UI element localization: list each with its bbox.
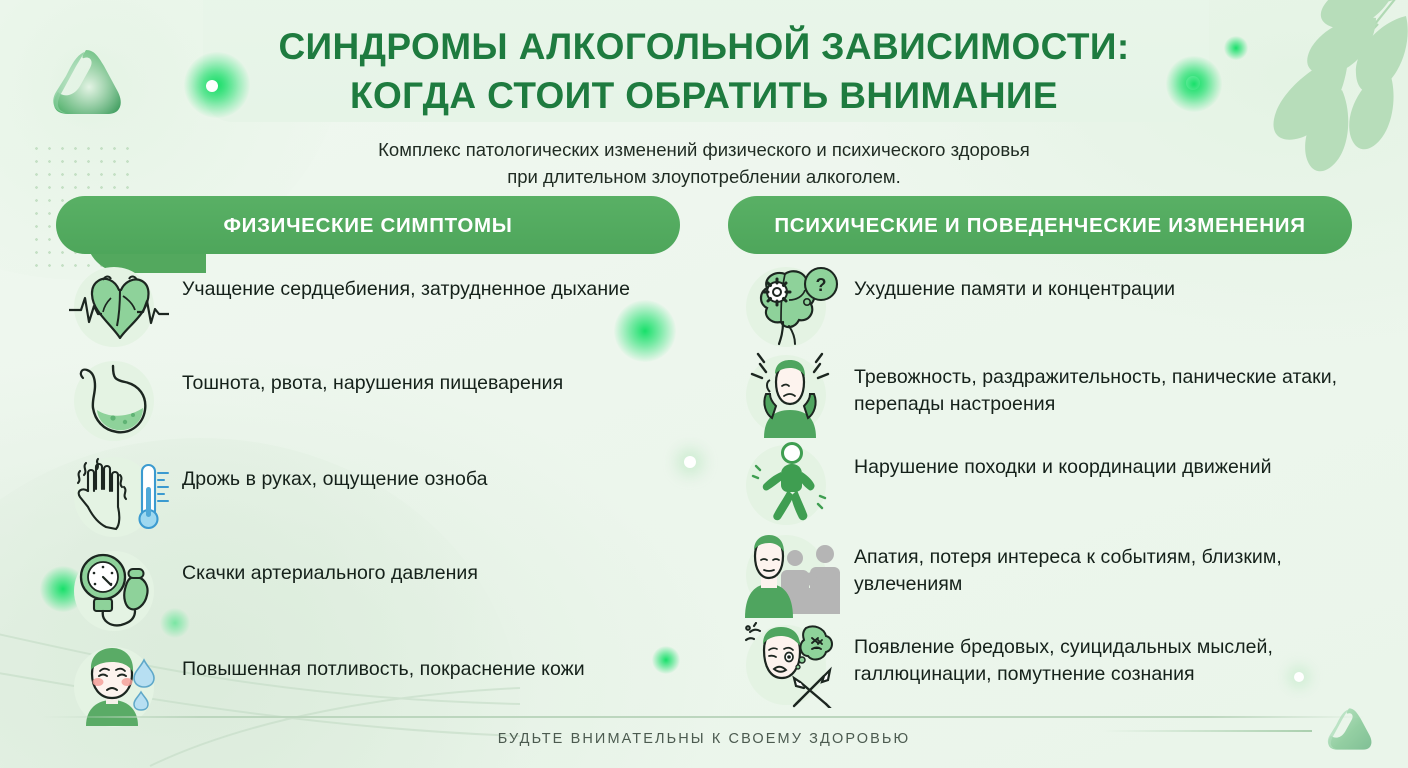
list-item-label: Ухудшение памяти и концентрации xyxy=(854,264,1352,303)
column-physical-symptoms: ФИЗИЧЕСКИЕ СИМПТОМЫ Учащ xyxy=(56,196,680,730)
list-item-label: Дрожь в руках, ощущение озноба xyxy=(182,454,680,493)
stomach-icon xyxy=(73,360,165,442)
walking-person-icon xyxy=(748,442,834,528)
list-item-label: Апатия, потеря интереса к событиям, близ… xyxy=(854,532,1352,597)
list-item: Учащение сердцебиения, затрудненное дыха… xyxy=(56,264,680,350)
list-item: Скачки артериального давления xyxy=(56,548,680,634)
list-item: Апатия, потеря интереса к событиям, близ… xyxy=(728,532,1352,620)
delusion-face-sword-icon xyxy=(738,622,844,708)
page-title: СИНДРОМЫ АЛКОГОЛЬНОЙ ЗАВИСИМОСТИ: КОГДА … xyxy=(0,0,1408,120)
icon-wrap xyxy=(728,532,854,618)
list-item: Появление бредовых, суицидальных мыслей,… xyxy=(728,622,1352,710)
list-item: Тревожность, раздражительность, паническ… xyxy=(728,352,1352,440)
svg-text:?: ? xyxy=(816,275,827,295)
list-item: Дрожь в руках, ощущение озноба xyxy=(56,454,680,540)
page-subtitle-line2: при длительном злоупотреблении алкоголем… xyxy=(0,163,1408,190)
apathy-family-icon xyxy=(739,532,843,618)
icon-wrap xyxy=(56,548,182,634)
heart-ecg-icon xyxy=(67,268,171,346)
page-subtitle-line1: Комплекс патологических изменений физиче… xyxy=(0,136,1408,163)
icon-wrap xyxy=(728,442,854,528)
page-title-line1: СИНДРОМЫ АЛКОГОЛЬНОЙ ЗАВИСИМОСТИ: xyxy=(278,26,1129,67)
footer-tagline: БУДЬТЕ ВНИМАТЕЛЬНЫ К СВОЕМУ ЗДОРОВЬЮ xyxy=(0,731,1408,747)
content-columns: ФИЗИЧЕСКИЕ СИМПТОМЫ Учащ xyxy=(0,196,1408,730)
symptom-list-physical: Учащение сердцебиения, затрудненное дыха… xyxy=(56,264,680,730)
list-item-label: Скачки артериального давления xyxy=(182,548,680,587)
icon-wrap xyxy=(728,352,854,438)
brain-gear-question-icon: ? xyxy=(741,266,841,348)
list-item-label: Тошнота, рвота, нарушения пищеварения xyxy=(182,358,680,397)
icon-wrap xyxy=(56,358,182,444)
list-item: Нарушение походки и координации движений xyxy=(728,442,1352,530)
footer: БУДЬТЕ ВНИМАТЕЛЬНЫ К СВОЕМУ ЗДОРОВЬЮ xyxy=(0,716,1408,768)
list-item-label: Учащение сердцебиения, затрудненное дыха… xyxy=(182,264,680,303)
icon-wrap xyxy=(56,454,182,540)
list-item: ? Ухудшение памяти и концентрации xyxy=(728,264,1352,352)
list-item: Тошнота, рвота, нарушения пищеварения xyxy=(56,358,680,444)
symptom-list-mental: ? Ухудшение памяти и концентрации xyxy=(728,264,1352,710)
icon-wrap xyxy=(728,622,854,708)
icon-wrap: ? xyxy=(728,264,854,350)
blood-pressure-monitor-icon xyxy=(67,549,171,633)
list-item-label: Нарушение походки и координации движений xyxy=(854,442,1352,481)
page-subtitle: Комплекс патологических изменений физиче… xyxy=(0,120,1408,190)
list-item-label: Тревожность, раздражительность, паническ… xyxy=(854,352,1352,417)
icon-wrap xyxy=(56,264,182,350)
list-item-label: Повышенная потливость, покраснение кожи xyxy=(182,644,680,683)
page-title-line2: КОГДА СТОИТ ОБРАТИТЬ ВНИМАНИЕ xyxy=(0,71,1408,120)
column-heading-physical: ФИЗИЧЕСКИЕ СИМПТОМЫ xyxy=(56,196,680,254)
anxious-person-head-icon xyxy=(742,352,840,438)
column-mental-behavioral-changes: ПСИХИЧЕСКИЕ И ПОВЕДЕНЧЕСКИЕ ИЗМЕНЕНИЯ xyxy=(728,196,1352,730)
trembling-hand-thermometer-icon xyxy=(64,457,174,537)
column-heading-mental: ПСИХИЧЕСКИЕ И ПОВЕДЕНЧЕСКИЕ ИЗМЕНЕНИЯ xyxy=(728,196,1352,254)
list-item-label: Появление бредовых, суицидальных мыслей,… xyxy=(854,622,1352,687)
footer-divider xyxy=(42,716,1366,718)
header: СИНДРОМЫ АЛКОГОЛЬНОЙ ЗАВИСИМОСТИ: КОГДА … xyxy=(0,0,1408,190)
